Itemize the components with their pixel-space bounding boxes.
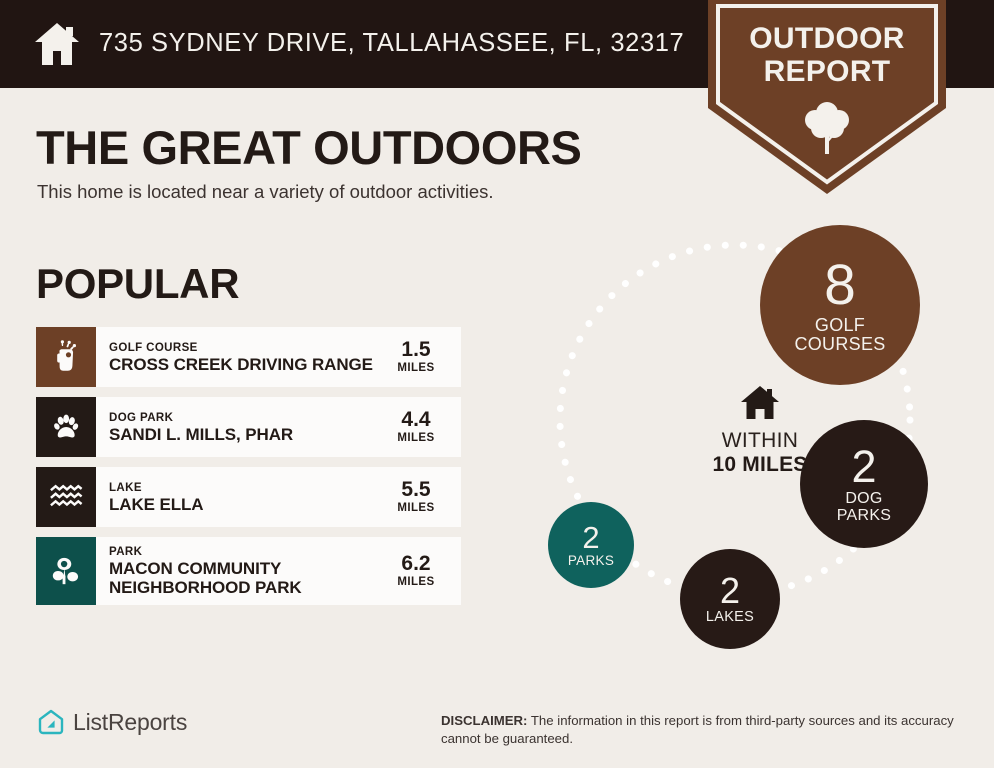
bubble-label: LAKES	[706, 610, 754, 625]
poi-distance-unit: MILES	[397, 361, 434, 375]
popular-list: GOLF COURSE CROSS CREEK DRIVING RANGE 1.…	[36, 327, 461, 615]
bubble-label: GOLF COURSES	[794, 316, 885, 354]
bubble-label: DOG PARKS	[837, 491, 892, 525]
bubble-count: 8	[824, 257, 856, 314]
bubble-label: PARKS	[568, 554, 614, 568]
badge-title-line1: OUTDOOR	[708, 22, 946, 55]
poi-distance: 1.5 MILES	[377, 327, 461, 387]
tree-icon	[801, 100, 853, 156]
poi-text: PARK MACON COMMUNITY NEIGHBORHOOD PARK	[96, 537, 377, 605]
poi-category: PARK	[109, 545, 377, 559]
diagram-center-label: WITHIN 10 MILES	[650, 385, 870, 477]
badge-title-line2: REPORT	[708, 55, 946, 88]
disclaimer-label: DISCLAIMER:	[441, 713, 527, 728]
listreports-logo-text: ListReports	[73, 709, 187, 736]
bubble-parks[interactable]: 2 PARKS	[548, 502, 634, 588]
list-item[interactable]: GOLF COURSE CROSS CREEK DRIVING RANGE 1.…	[36, 327, 461, 387]
listreports-logo[interactable]: ListReports	[37, 708, 187, 736]
bubble-golf-courses[interactable]: 8 GOLF COURSES	[760, 225, 920, 385]
center-line-1: WITHIN	[650, 429, 870, 453]
poi-distance: 6.2 MILES	[377, 537, 461, 605]
poi-category: LAKE	[109, 481, 377, 495]
page-title: THE GREAT OUTDOORS	[36, 120, 582, 175]
poi-distance-unit: MILES	[397, 431, 434, 445]
poi-text: DOG PARK SANDI L. MILLS, PHAR	[96, 397, 377, 457]
poi-distance-value: 1.5	[401, 339, 430, 361]
poi-icon-tile	[36, 467, 96, 527]
poi-distance: 5.5 MILES	[377, 467, 461, 527]
poi-name: SANDI L. MILLS, PHAR	[109, 425, 377, 444]
home-icon	[33, 21, 81, 67]
center-line-2: 10 MILES	[650, 453, 870, 477]
poi-name: LAKE ELLA	[109, 495, 377, 514]
poi-icon-tile	[36, 327, 96, 387]
outdoor-report-badge: OUTDOOR REPORT	[708, 0, 946, 196]
park-trees-icon	[49, 555, 83, 587]
poi-category: DOG PARK	[109, 411, 377, 425]
poi-name: CROSS CREEK DRIVING RANGE	[109, 355, 377, 374]
poi-text: GOLF COURSE CROSS CREEK DRIVING RANGE	[96, 327, 377, 387]
golf-bag-icon	[49, 340, 83, 374]
poi-icon-tile	[36, 537, 96, 605]
poi-category: GOLF COURSE	[109, 341, 377, 355]
waves-icon	[49, 484, 83, 510]
popular-heading: POPULAR	[36, 260, 239, 308]
poi-name: MACON COMMUNITY NEIGHBORHOOD PARK	[109, 559, 349, 597]
property-address: 735 SYDNEY DRIVE, TALLAHASSEE, FL, 32317	[99, 29, 684, 58]
disclaimer: DISCLAIMER: The information in this repo…	[441, 712, 963, 748]
poi-distance-value: 4.4	[401, 409, 430, 431]
poi-distance-unit: MILES	[397, 575, 434, 589]
within-10-miles-diagram: 8 GOLF COURSES 2 DOG PARKS 2 LAKES 2 PAR…	[520, 215, 994, 665]
list-item[interactable]: DOG PARK SANDI L. MILLS, PHAR 4.4 MILES	[36, 397, 461, 457]
page-subtitle: This home is located near a variety of o…	[37, 181, 494, 203]
badge-title: OUTDOOR REPORT	[708, 22, 946, 88]
listreports-house-icon	[37, 708, 65, 736]
outdoor-report-page: 735 SYDNEY DRIVE, TALLAHASSEE, FL, 32317…	[0, 0, 994, 768]
home-icon	[740, 385, 780, 421]
list-item[interactable]: PARK MACON COMMUNITY NEIGHBORHOOD PARK 6…	[36, 537, 461, 605]
bubble-count: 2	[720, 573, 740, 609]
poi-distance-unit: MILES	[397, 501, 434, 515]
poi-distance-value: 6.2	[401, 553, 430, 575]
poi-distance-value: 5.5	[401, 479, 430, 501]
bubble-count: 2	[582, 522, 599, 553]
poi-text: LAKE LAKE ELLA	[96, 467, 377, 527]
list-item[interactable]: LAKE LAKE ELLA 5.5 MILES	[36, 467, 461, 527]
bubble-lakes[interactable]: 2 LAKES	[680, 549, 780, 649]
paw-icon	[50, 411, 82, 443]
poi-distance: 4.4 MILES	[377, 397, 461, 457]
poi-icon-tile	[36, 397, 96, 457]
